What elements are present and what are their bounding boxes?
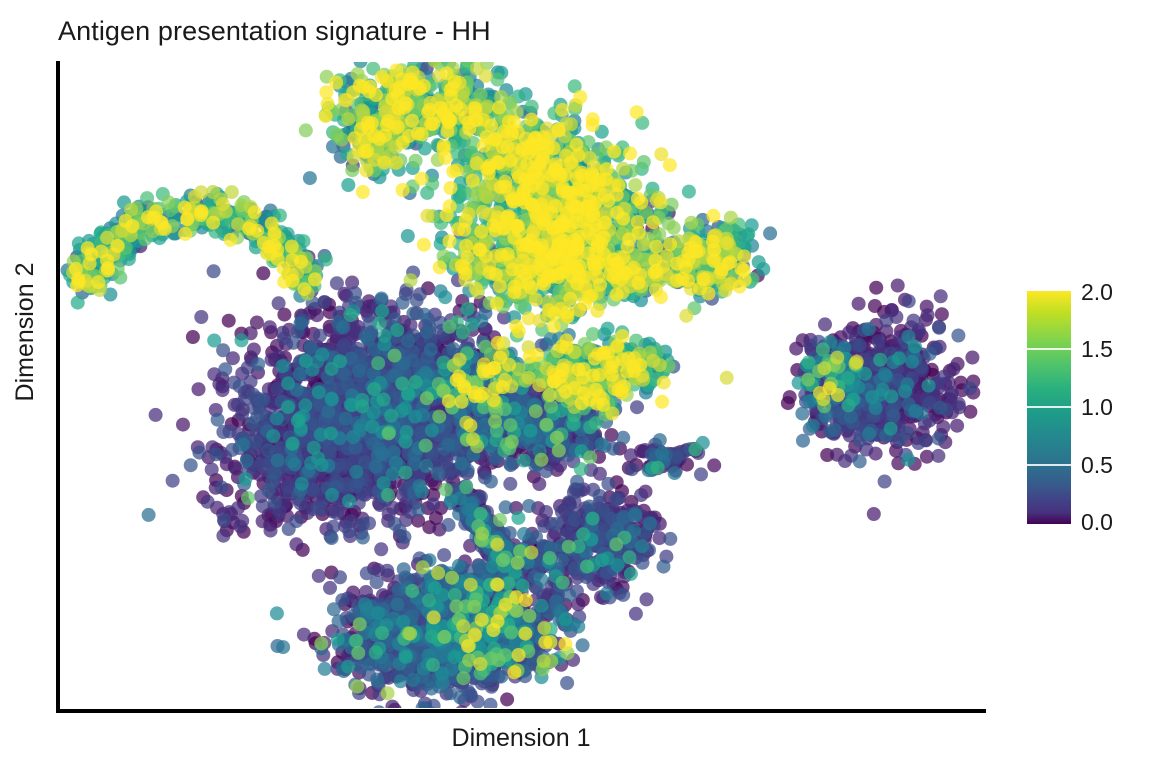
x-axis-line xyxy=(56,709,986,713)
x-axis-label: Dimension 1 xyxy=(56,722,986,754)
colorbar-label-2-0: 2.0 xyxy=(1081,281,1113,304)
colorbar-tick-0 xyxy=(1027,522,1071,524)
scatter-svg xyxy=(60,62,986,708)
colorbar-label-1-0: 1.0 xyxy=(1081,396,1113,419)
colorbar-gradient xyxy=(1027,291,1071,524)
colorbar-label-0-5: 0.5 xyxy=(1081,454,1113,477)
colorbar-label-1-5: 1.5 xyxy=(1081,338,1113,361)
y-axis-label-container: Dimension 2 xyxy=(8,212,48,452)
y-axis-label: Dimension 2 xyxy=(8,212,42,452)
page-title: Antigen presentation signature - HH xyxy=(58,14,491,48)
scatter-plot-figure: Antigen presentation signature - HH Dime… xyxy=(0,0,1152,768)
colorbar-tick-1-5 xyxy=(1027,348,1071,350)
colorbar-tick-2 xyxy=(1027,291,1071,293)
scatter-points-area xyxy=(60,62,986,708)
colorbar-tick-1 xyxy=(1027,406,1071,408)
colorbar-tick-0-5 xyxy=(1027,464,1071,466)
colorbar-label-0-0: 0.0 xyxy=(1081,511,1113,534)
